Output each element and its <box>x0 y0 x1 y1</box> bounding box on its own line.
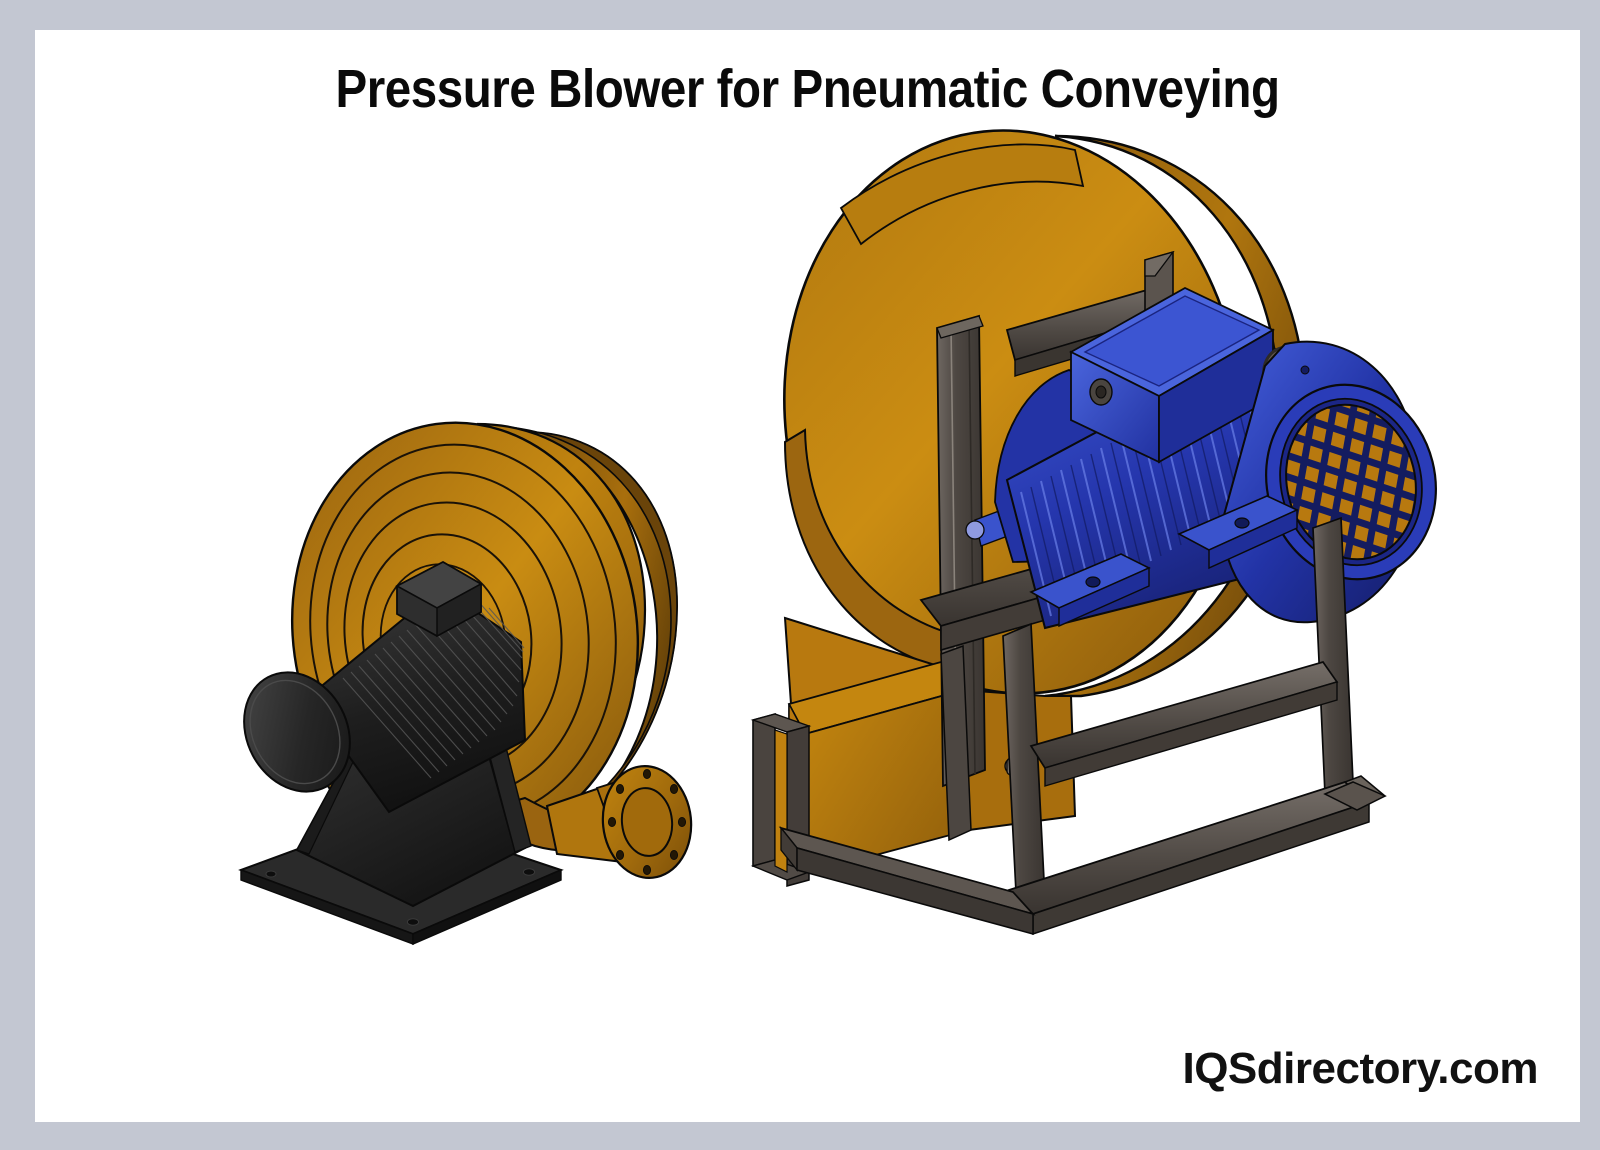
image-frame: Pressure Blower for Pneumatic Conveying <box>0 0 1600 1150</box>
illustration-canvas: Pressure Blower for Pneumatic Conveying <box>35 30 1580 1122</box>
fan-cowl-screw-top <box>1301 366 1309 374</box>
motor-shaft-end <box>966 521 984 539</box>
right-blower-illustration <box>745 130 1575 1000</box>
motor-foot-front-hole <box>1086 577 1100 587</box>
left-blower-illustration <box>225 410 745 970</box>
motor-foot-rear-hole <box>1235 518 1249 528</box>
page-title: Pressure Blower for Pneumatic Conveying <box>128 58 1488 120</box>
terminal-box-cable-gland <box>1090 379 1112 405</box>
watermark-text: IQSdirectory.com <box>1182 1044 1538 1094</box>
right-duct-flange-frame <box>753 714 775 866</box>
